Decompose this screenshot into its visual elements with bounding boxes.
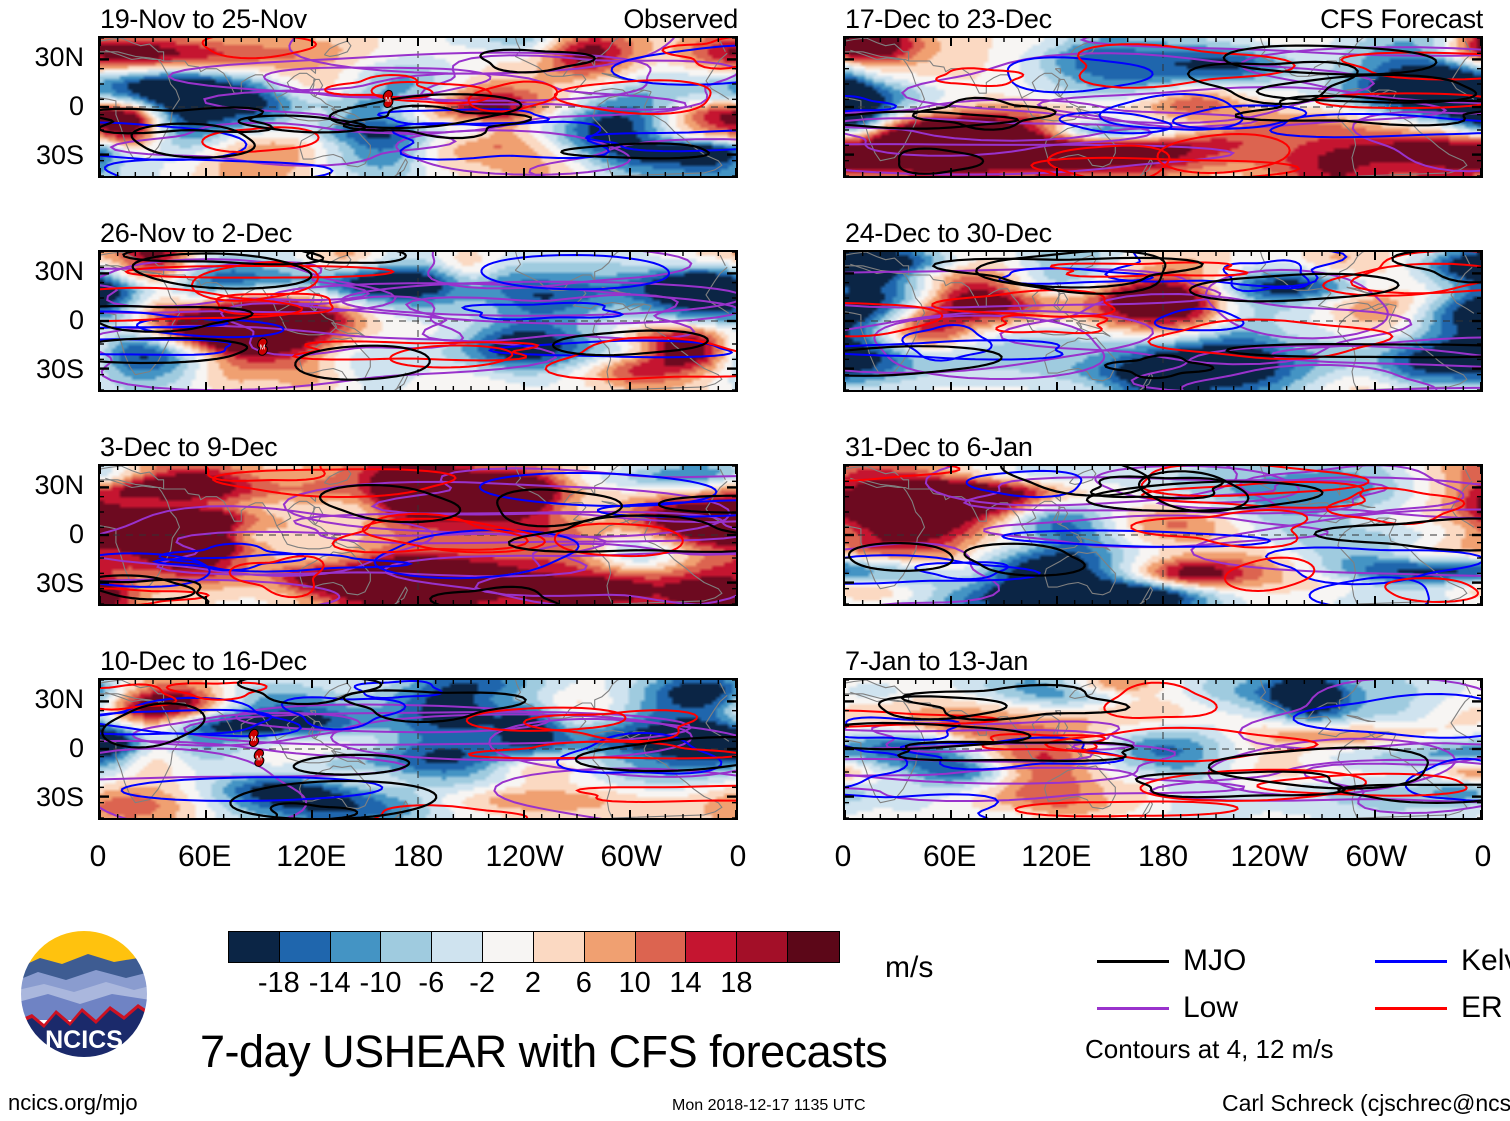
legend-label: ER (1461, 993, 1503, 1023)
x-tick-label: 180 (1103, 842, 1223, 872)
x-tick-label: 60E (890, 842, 1010, 872)
tropical-cyclone-marker: M (383, 90, 393, 107)
x-tick-label: 60W (1316, 842, 1436, 872)
map-overlay-cfs-2 (845, 252, 1481, 390)
figure-main-title: 7-day USHEAR with CFS forecasts (200, 1029, 887, 1074)
x-tick-label: 120E (251, 842, 371, 872)
y-tick-label: 30N (2, 686, 84, 713)
colorbar-swatch (686, 932, 737, 962)
colorbar-swatch (432, 932, 483, 962)
colorbar-swatch (636, 932, 687, 962)
y-tick-label: 30S (2, 142, 84, 169)
panel-title-obs-3: 3-Dec to 9-Dec (100, 434, 277, 461)
colorbar-swatch (534, 932, 585, 962)
panel-title-obs-1: 19-Nov to 25-Nov (100, 6, 307, 33)
ncics-logo-text: NCICS (45, 1026, 123, 1054)
x-tick-label: 180 (358, 842, 478, 872)
y-tick-label: 0 (2, 307, 84, 334)
panel-title-cfs-2: 24-Dec to 30-Dec (845, 220, 1052, 247)
legend-label: MJO (1183, 946, 1246, 976)
svg-text:M: M (260, 345, 266, 352)
map-overlay-cfs-1 (845, 38, 1481, 176)
y-tick-label: 30S (2, 356, 84, 383)
x-tick-label: 0 (678, 842, 798, 872)
map-plot-area-cfs-1[interactable] (843, 36, 1483, 178)
tropical-cyclone-marker: M (249, 729, 259, 746)
map-plot-area-cfs-4[interactable] (843, 678, 1483, 820)
panel-title-cfs-3: 31-Dec to 6-Jan (845, 434, 1033, 461)
colorbar-swatch (280, 932, 331, 962)
map-overlay-obs-3 (100, 466, 736, 604)
legend-line-swatch (1375, 960, 1447, 963)
map-plot-area-cfs-3[interactable] (843, 464, 1483, 606)
y-tick-label: 0 (2, 521, 84, 548)
x-tick-label: 0 (38, 842, 158, 872)
generation-timestamp: Mon 2018-12-17 1135 UTC (672, 1098, 866, 1114)
ncics-logo[interactable]: NCICS (18, 928, 150, 1060)
map-plot-area-obs-4[interactable]: MM (98, 678, 738, 820)
legend-line-swatch (1375, 1007, 1447, 1010)
x-tick-label: 120W (1210, 842, 1330, 872)
map-overlay-obs-1: M (100, 38, 736, 176)
tropical-cyclone-marker: M (254, 749, 264, 766)
colorbar-swatch (381, 932, 432, 962)
y-tick-label: 0 (2, 93, 84, 120)
y-tick-label: 30N (2, 472, 84, 499)
map-plot-area-obs-2[interactable]: M (98, 250, 738, 392)
x-tick-label: 60E (145, 842, 265, 872)
site-url-label[interactable]: ncics.org/mjo (8, 1092, 138, 1114)
svg-text:M: M (256, 756, 262, 763)
contour-interval-note: Contours at 4, 12 m/s (1085, 1036, 1334, 1062)
x-tick-label: 120E (996, 842, 1116, 872)
y-tick-label: 30N (2, 258, 84, 285)
y-tick-label: 0 (2, 735, 84, 762)
panel-title-cfs-1: 17-Dec to 23-Dec (845, 6, 1052, 33)
author-credit[interactable]: Carl Schreck (cjschrec@ncsu.edu) (1222, 1092, 1510, 1115)
colorbar-swatch (483, 932, 534, 962)
x-tick-label: 0 (1423, 842, 1510, 872)
map-plot-area-obs-3[interactable] (98, 464, 738, 606)
legend-entry-kelvin-x2: Kelvin x2 (1375, 946, 1510, 976)
y-tick-label: 30S (2, 784, 84, 811)
legend-line-swatch (1097, 1007, 1169, 1010)
y-tick-label: 30N (2, 44, 84, 71)
colorbar-swatch (229, 932, 280, 962)
colorbar-units-label: m/s (885, 953, 933, 983)
colorbar-swatch (585, 932, 636, 962)
column-header-observed: Observed (438, 6, 738, 33)
map-plot-area-obs-1[interactable]: M (98, 36, 738, 178)
legend-entry-mjo: MJO (1097, 946, 1246, 976)
legend-entry-er: ER (1375, 993, 1503, 1023)
map-overlay-cfs-4 (845, 680, 1481, 818)
legend-label: Low (1183, 993, 1238, 1023)
panel-title-cfs-4: 7-Jan to 13-Jan (845, 648, 1028, 675)
svg-text:M: M (385, 97, 391, 104)
map-overlay-obs-2: M (100, 252, 736, 390)
svg-text:M: M (251, 736, 257, 743)
colorbar-swatch (331, 932, 382, 962)
legend-label: Kelvin x2 (1461, 946, 1510, 976)
legend-entry-low: Low (1097, 993, 1238, 1023)
colorbar-swatch (788, 932, 839, 962)
panel-title-obs-2: 26-Nov to 2-Dec (100, 220, 292, 247)
panel-title-obs-4: 10-Dec to 16-Dec (100, 648, 307, 675)
column-header-cfs: CFS Forecast (1183, 6, 1483, 33)
x-tick-label: 60W (571, 842, 691, 872)
colorbar (228, 931, 840, 963)
map-plot-area-cfs-2[interactable] (843, 250, 1483, 392)
legend-line-swatch (1097, 960, 1169, 963)
colorbar-swatch (737, 932, 788, 962)
map-overlay-cfs-3 (845, 466, 1481, 604)
tropical-cyclone-marker: M (258, 338, 268, 355)
ncics-logo-icon: NCICS (18, 928, 150, 1060)
x-tick-label: 120W (465, 842, 585, 872)
colorbar-tick-label: 18 (701, 969, 771, 998)
x-tick-label: 0 (783, 842, 903, 872)
map-overlay-obs-4: MM (100, 680, 736, 818)
y-tick-label: 30S (2, 570, 84, 597)
